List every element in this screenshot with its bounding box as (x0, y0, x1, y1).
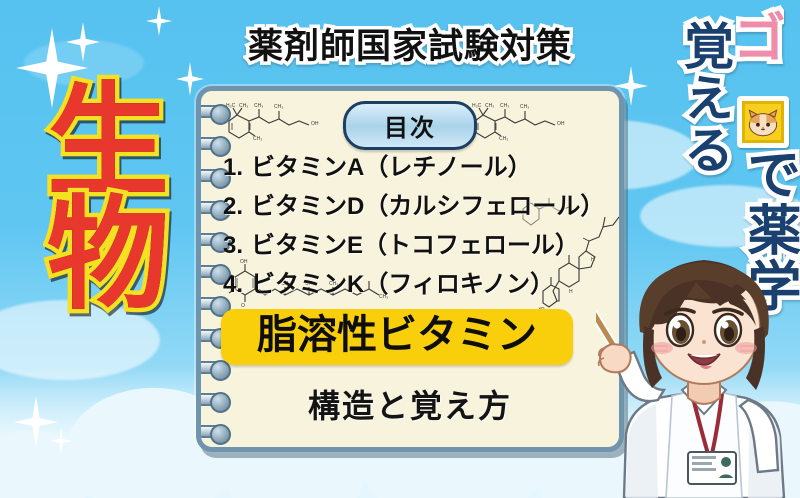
svg-text:H₃C: H₃C (472, 103, 482, 109)
svg-text:CH₃: CH₃ (485, 103, 494, 109)
catchcopy-go-char: ゴ (715, 10, 794, 64)
toc-list: 1. ビタミンA（レチノール） 2. ビタミンD（カルシフェロール） 3. ビタ… (223, 147, 617, 303)
subject-char-2: 物 (28, 199, 186, 312)
svg-text:OH: OH (557, 121, 565, 127)
list-item-label: ビタミンD（カルシフェロール） (251, 186, 604, 221)
list-item-number: 2. (223, 193, 249, 221)
list-item-label: ビタミンA（レチノール） (251, 147, 532, 182)
list-item-number: 4. (223, 271, 249, 299)
list-item-number: 1. (223, 154, 249, 182)
notebook-panel: H₃CCH₃ CH₃CH₃ CH₃OH (196, 86, 624, 452)
list-item: 3. ビタミンE（トコフェロール） (223, 225, 617, 260)
list-item: 4. ビタミンK（フィロキノン） (223, 264, 617, 299)
svg-text:CH₃: CH₃ (253, 136, 262, 142)
pharmacist-character-illustration (596, 248, 800, 498)
subject-char-1: 生 (28, 86, 186, 199)
thumbnail-canvas: 薬剤師国家試験対策 生 物 覚える で薬学 ゴ (0, 0, 800, 498)
id-badge (688, 452, 736, 484)
sub-caption: 構造と覚え方 (201, 381, 619, 427)
list-item-number: 3. (223, 232, 249, 260)
svg-text:CH₃: CH₃ (520, 104, 529, 110)
chem-structure-retinol-right: H₃CCH₃ CH₃CH₃ CH₃OH (469, 99, 589, 147)
cat-icon (746, 108, 780, 138)
svg-text:CH₃: CH₃ (500, 103, 509, 109)
toc-badge: 目次 (343, 101, 477, 150)
svg-text:CH₃: CH₃ (274, 104, 283, 110)
notebook-inner: H₃CCH₃ CH₃CH₃ CH₃OH (201, 91, 619, 447)
svg-text:CH₃: CH₃ (239, 103, 248, 109)
svg-text:CH₃: CH₃ (254, 103, 263, 109)
highlight-box: 脂溶性ビタミン (221, 309, 573, 365)
notebook-ring (201, 105, 229, 118)
list-item-label: ビタミンK（フィロキノン） (251, 264, 554, 299)
list-item: 2. ビタミンD（カルシフェロール） (223, 186, 617, 221)
sparkle-icon-3 (146, 6, 172, 36)
subject-title: 生 物 (28, 86, 186, 313)
svg-text:OH: OH (311, 121, 319, 127)
notebook-ring (201, 361, 229, 374)
highlight-label: 脂溶性ビタミン (231, 314, 563, 357)
svg-text:CH₃: CH₃ (499, 136, 508, 142)
list-item: 1. ビタミンA（レチノール） (223, 147, 617, 182)
list-item-label: ビタミンE（トコフェロール） (251, 225, 579, 260)
page-title: 薬剤師国家試験対策 (200, 18, 620, 69)
hand (599, 344, 631, 372)
chem-structure-retinol-left: H₃CCH₃ CH₃CH₃ CH₃OH (223, 99, 343, 147)
catchcopy-ro-box (737, 96, 789, 148)
